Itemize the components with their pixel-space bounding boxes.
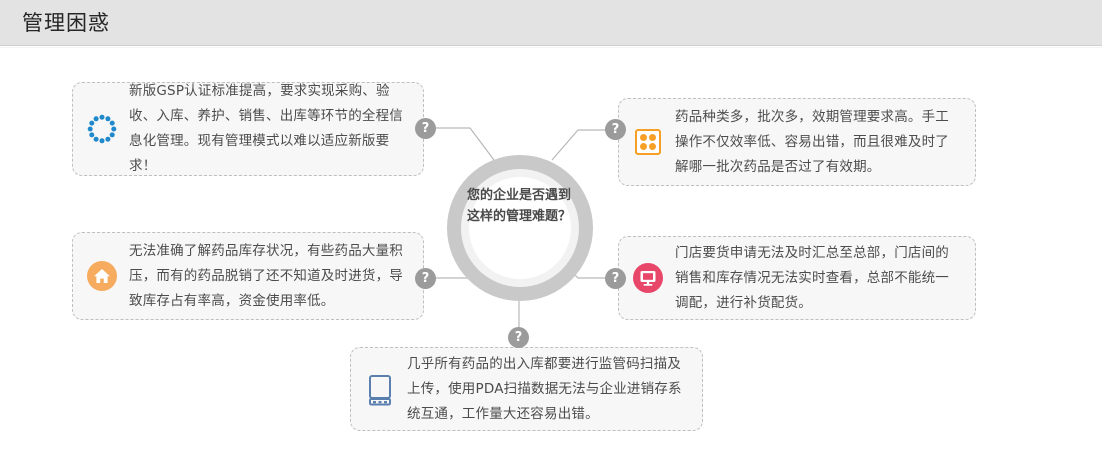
question-badge-pda[interactable]: ? — [508, 327, 529, 348]
card-gsp[interactable]: 新版GSP认证标准提高，要求实现采购、验收、入库、养护、销售、出库等环节的全程信… — [72, 82, 424, 176]
card-expiry-text: 药品种类多，批次多，效期管理要求高。手工操作不仅效率低、容易出错，而且很难及时了… — [675, 105, 961, 180]
card-store[interactable]: 门店要货申请无法及时汇总至总部，门店间的销售和库存情况无法实时查看，总部不能统一… — [618, 236, 976, 320]
card-store-text: 门店要货申请无法及时汇总至总部，门店间的销售和库存情况无法实时查看，总部不能统一… — [675, 241, 961, 316]
card-stock-text: 无法准确了解药品库存状况，有些药品大量积压，而有的药品脱销了还不知道及时进货，导… — [129, 239, 409, 314]
page-root: 管理困惑 您的企业是否遇到这样的管理难题？ — [0, 0, 1102, 471]
center-hub: 您的企业是否遇到这样的管理难题？ — [447, 155, 593, 301]
question-badge-stock[interactable]: ? — [415, 268, 436, 289]
orange-home-circle-icon — [87, 259, 121, 293]
question-badge-gsp[interactable]: ? — [415, 118, 436, 139]
card-pda[interactable]: 几乎所有药品的出入库都要进行监管码扫描及上传，使用PDA扫描数据无法与企业进销存… — [350, 347, 703, 431]
orange-grid-square-icon — [633, 125, 667, 159]
card-expiry[interactable]: 药品种类多，批次多，效期管理要求高。手工操作不仅效率低、容易出错，而且很难及时了… — [618, 98, 976, 186]
blue-pda-phone-icon — [365, 372, 399, 406]
question-badge-store[interactable]: ? — [605, 268, 626, 289]
blue-dotted-ring-icon — [87, 112, 121, 146]
question-badge-expiry[interactable]: ? — [605, 119, 626, 140]
card-gsp-text: 新版GSP认证标准提高，要求实现采购、验收、入库、养护、销售、出库等环节的全程信… — [129, 79, 409, 179]
pink-monitor-circle-icon — [633, 261, 667, 295]
card-stock[interactable]: 无法准确了解药品库存状况，有些药品大量积压，而有的药品脱销了还不知道及时进货，导… — [72, 232, 424, 320]
hub-question-text: 您的企业是否遇到这样的管理难题？ — [467, 185, 579, 227]
vertical-scrollbar-track[interactable] — [1090, 318, 1102, 471]
card-pda-text: 几乎所有药品的出入库都要进行监管码扫描及上传，使用PDA扫描数据无法与企业进销存… — [407, 352, 688, 427]
